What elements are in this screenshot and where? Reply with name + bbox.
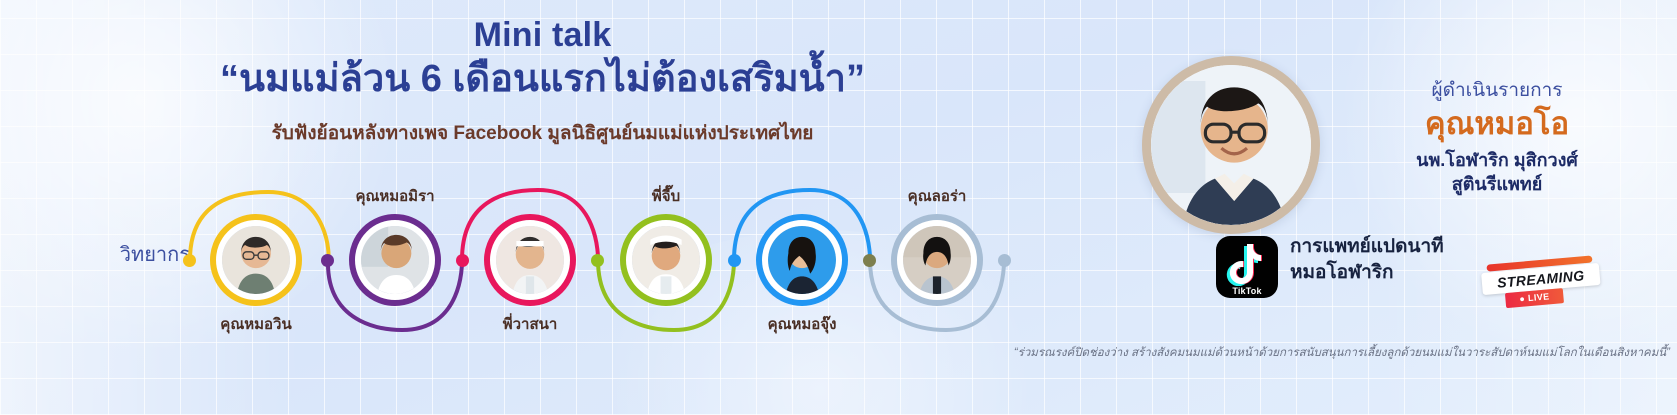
timeline-dot xyxy=(183,254,196,267)
host-avatar xyxy=(1142,56,1320,234)
channel-name-line2: หมอโอฬาริก xyxy=(1290,260,1444,286)
streaming-badge: STREAMING ● LIVE xyxy=(1480,255,1601,307)
timeline-dot xyxy=(456,254,469,267)
speaker-avatar-icon xyxy=(903,226,971,294)
speaker-node[interactable]: คุณหมอมิรา xyxy=(349,214,441,306)
speaker-photo xyxy=(765,223,839,297)
speaker-avatar-icon xyxy=(361,226,429,294)
speaker-node[interactable]: พี่จี๊บ xyxy=(620,214,712,306)
host-full-name: นพ.โอฬาริก มุสิกวงศ์ xyxy=(1332,148,1662,172)
channel-name-line1: การแพทย์แปดนาที xyxy=(1290,234,1444,260)
speaker-label: คุณหมอมิรา xyxy=(355,184,434,208)
tiktok-wordmark: TikTok xyxy=(1216,286,1278,296)
timeline-dot xyxy=(591,254,604,267)
host-details: ผู้ดำเนินรายการ คุณหมอโอ นพ.โอฬาริก มุสิ… xyxy=(1332,80,1662,196)
speaker-photo xyxy=(629,223,703,297)
page-title-th: “นมแม่ล้วน 6 เดือนแรกไม่ต้องเสริมน้ำ” xyxy=(0,56,1085,102)
speaker-avatar-icon xyxy=(768,226,836,294)
host-specialty: สูตินรีแพทย์ xyxy=(1332,172,1662,196)
host-section: ผู้ดำเนินรายการ คุณหมอโอ นพ.โอฬาริก มุสิ… xyxy=(1128,48,1673,248)
speaker-photo xyxy=(900,223,974,297)
speakers-section: วิทยากร xyxy=(0,178,1040,338)
timeline-dot xyxy=(863,254,876,267)
footer-note: “ร่วมรณรงค์ปิดช่องว่าง สร้างสังคมนมแม่ด้… xyxy=(845,344,1670,362)
speaker-photo xyxy=(358,223,432,297)
speaker-label: พี่จี๊บ xyxy=(652,184,680,208)
channel-name: การแพทย์แปดนาที หมอโอฬาริก xyxy=(1290,234,1444,285)
channel-section: TikTok การแพทย์แปดนาที หมอโอฬาริก STREAM… xyxy=(1216,232,1676,312)
timeline-dot xyxy=(728,254,741,267)
speaker-avatar-icon xyxy=(496,226,564,294)
speaker-photo xyxy=(219,223,293,297)
host-role: ผู้ดำเนินรายการ xyxy=(1332,80,1662,103)
speaker-node[interactable]: คุณหมอวิน xyxy=(210,214,302,306)
speaker-label: คุณลอร่า xyxy=(908,184,967,208)
speaker-avatar-icon xyxy=(222,226,290,294)
speaker-label: คุณหมอวิน xyxy=(220,312,291,336)
headline-block: Mini talk “นมแม่ล้วน 6 เดือนแรกไม่ต้องเส… xyxy=(0,16,1085,148)
speaker-photo xyxy=(493,223,567,297)
tiktok-icon[interactable]: TikTok xyxy=(1216,236,1278,298)
host-nickname: คุณหมอโอ xyxy=(1332,105,1662,144)
speaker-node[interactable]: พี่วาสนา xyxy=(484,214,576,306)
speaker-node[interactable]: คุณลอร่า xyxy=(891,214,983,306)
page-title-en: Mini talk xyxy=(0,16,1085,54)
banner-root: Mini talk “นมแม่ล้วน 6 เดือนแรกไม่ต้องเส… xyxy=(0,0,1677,415)
speaker-avatar-icon xyxy=(632,226,700,294)
page-subtitle: รับฟังย้อนหลังทางเพจ Facebook มูลนิธิศูน… xyxy=(0,118,1085,148)
host-avatar-image xyxy=(1151,65,1311,225)
speaker-label: คุณหมอจุ๊ง xyxy=(768,312,837,336)
timeline-dot xyxy=(321,254,334,267)
timeline-dot xyxy=(998,254,1011,267)
speaker-node[interactable]: คุณหมอจุ๊ง xyxy=(756,214,848,306)
speaker-label: พี่วาสนา xyxy=(503,312,558,336)
